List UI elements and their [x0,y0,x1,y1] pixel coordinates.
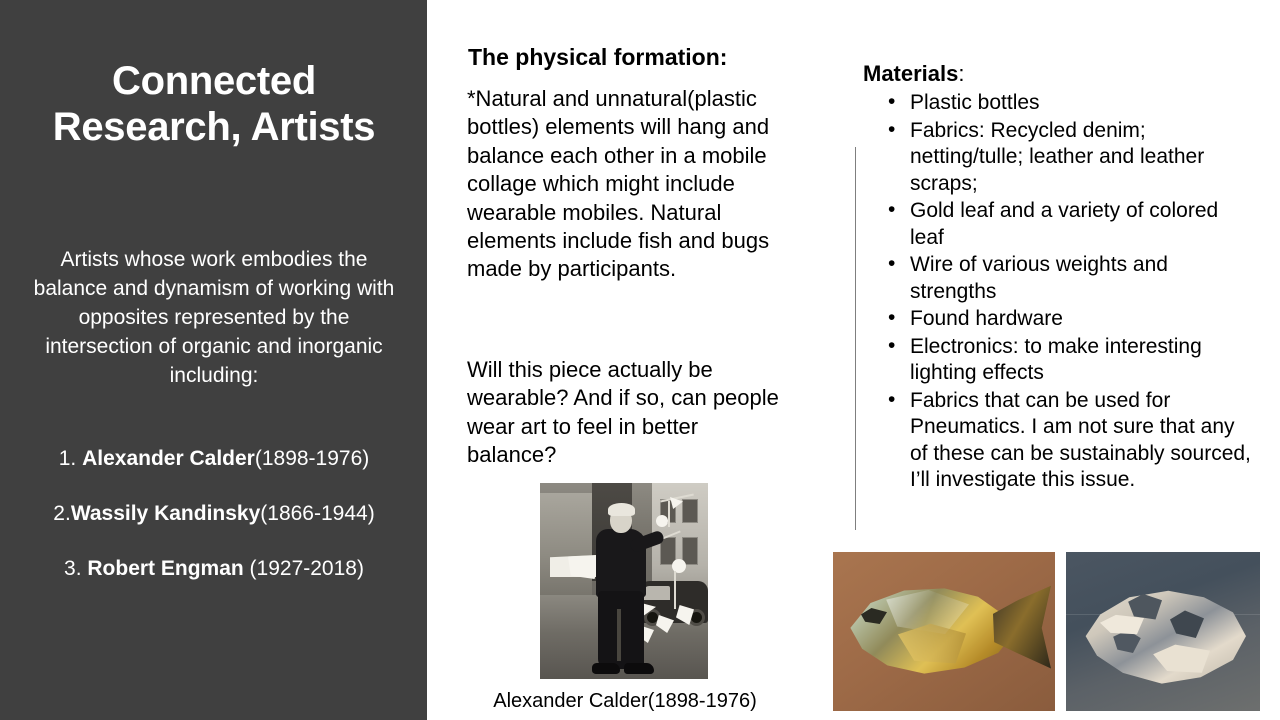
artist-number: 3. [64,557,87,580]
artist-name: Alexander Calder [82,447,255,470]
photo-person-legs [598,591,644,669]
artist-number: 1. [59,447,82,470]
bullet-icon: • [888,89,895,116]
bullet-icon: • [888,251,895,278]
list-item-label: Plastic bottles [910,91,1040,114]
list-item: 1. Alexander Calder(1898-1976) [24,445,404,473]
bullet-icon: • [888,305,895,332]
list-item: • Plastic bottles [884,90,1256,117]
list-item-label: Wire of various weights and strengths [910,253,1168,303]
bullet-icon: • [888,387,895,414]
bullet-icon: • [888,333,895,360]
panel-description: Artists whose work embodies the balance … [24,245,404,390]
list-item-label: Fabrics that can be used for Pneumatics.… [910,389,1251,492]
artist-name: Robert Engman [87,557,243,580]
calder-photo-caption: Alexander Calder(1898-1976) [445,688,805,714]
artist-years: (1898-1976) [255,447,369,470]
calder-photo [540,483,708,679]
materials-heading-label: Materials [863,61,958,86]
artist-name: Wassily Kandinsky [71,502,260,525]
list-item: • Found hardware [884,306,1256,333]
materials-list: • Plastic bottles • Fabrics: Recycled de… [884,90,1256,495]
fish-sculpture-photo-cream [1066,552,1260,711]
artist-number: 2. [53,502,71,525]
list-item-label: Fabrics: Recycled denim; netting/tulle; … [910,119,1204,195]
physical-formation-paragraph-2: Will this piece actually be wearable? An… [467,356,787,470]
list-item: • Fabrics: Recycled denim; netting/tulle… [884,118,1256,198]
vertical-divider [855,147,856,530]
photo-person-leg-gap [617,609,621,661]
title-panel: Connected Research, Artists Artists whos… [0,0,427,720]
physical-formation-paragraph-1: *Natural and unnatural(plastic bottles) … [467,85,813,284]
list-item: 2.Wassily Kandinsky(1866-1944) [24,500,404,528]
list-item: • Fabrics that can be used for Pneumatic… [884,388,1256,494]
list-item: • Gold leaf and a variety of colored lea… [884,198,1256,251]
bullet-icon: • [888,117,895,144]
photo-person-shoe [592,663,620,674]
fish-sculpture-photo-gold [833,552,1055,711]
artist-list: 1. Alexander Calder(1898-1976) 2.Wassily… [24,445,404,610]
page-title: Connected Research, Artists [28,58,400,150]
bullet-icon: • [888,197,895,224]
physical-formation-heading: The physical formation: [468,43,798,72]
mobile-wire [674,571,676,609]
mobile-blade [656,515,668,527]
list-item-label: Gold leaf and a variety of colored leaf [910,199,1218,249]
slide: Connected Research, Artists Artists whos… [0,0,1280,720]
artist-years: (1866-1944) [260,502,374,525]
materials-heading: Materials: [863,60,965,88]
photo-person-shoe [624,663,654,674]
photo-window [682,499,698,523]
list-item: • Wire of various weights and strengths [884,252,1256,305]
calder-photo-figure [540,483,708,679]
list-item: • Electronics: to make interesting light… [884,334,1256,387]
materials-heading-colon: : [958,61,964,86]
list-item-label: Found hardware [910,307,1063,330]
photo-person-hair [608,503,635,516]
photo-car-window [644,586,670,600]
list-item: 3. Robert Engman (1927-2018) [24,555,404,583]
mobile-wire [668,501,670,527]
photo-building-left [540,493,592,597]
list-item-label: Electronics: to make interesting lightin… [910,335,1202,385]
artist-years: (1927-2018) [244,557,364,580]
